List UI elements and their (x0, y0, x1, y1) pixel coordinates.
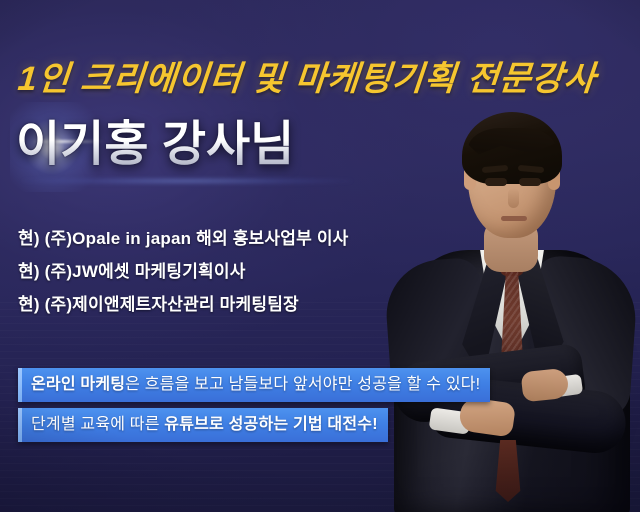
ribbon-normal-text: 은 흐름을 보고 남들보다 앞서야만 성공을 할 수 있다! (125, 376, 480, 393)
ribbon-row: 온라인 마케팅은 흐름을 보고 남들보다 앞서야만 성공을 할 수 있다! (18, 368, 490, 408)
instructor-name-block: 이기홍 강사님 (16, 114, 436, 182)
highlight-ribbon-primary: 온라인 마케팅은 흐름을 보고 남들보다 앞서야만 성공을 할 수 있다! (18, 368, 490, 402)
credential-item: 현) (주)Opale in japan 해외 홍보사업부 이사 (18, 222, 418, 255)
headline-tagline: 1인 크리에이터 및 마케팅기획 전문강사 (17, 62, 600, 96)
instructor-name: 이기홍 강사님 (16, 114, 436, 176)
credential-item: 현) (주)제이앤제트자산관리 마케팅팀장 (18, 288, 418, 321)
credential-item: 현) (주)JW에셋 마케팅기획이사 (18, 255, 418, 288)
ribbon-bold-text: 온라인 마케팅 (31, 376, 125, 393)
credentials-list: 현) (주)Opale in japan 해외 홍보사업부 이사 현) (주)J… (18, 222, 418, 321)
highlight-ribbon-secondary: 단계별 교육에 따른 유튜브로 성공하는 기법 대전수! (18, 408, 388, 442)
ribbon-row: 단계별 교육에 따른 유튜브로 성공하는 기법 대전수! (18, 408, 490, 448)
ribbon-bold-text: 유튜브로 성공하는 기법 대전수! (164, 416, 377, 433)
highlight-ribbons: 온라인 마케팅은 흐름을 보고 남들보다 앞서야만 성공을 할 수 있다! 단계… (18, 368, 490, 448)
promotional-banner: 1인 크리에이터 및 마케팅기획 전문강사 이기홍 강사님 현) (주)Opal… (0, 0, 640, 512)
name-underglow (22, 178, 352, 184)
ribbon-normal-text: 단계별 교육에 따른 (31, 416, 164, 433)
